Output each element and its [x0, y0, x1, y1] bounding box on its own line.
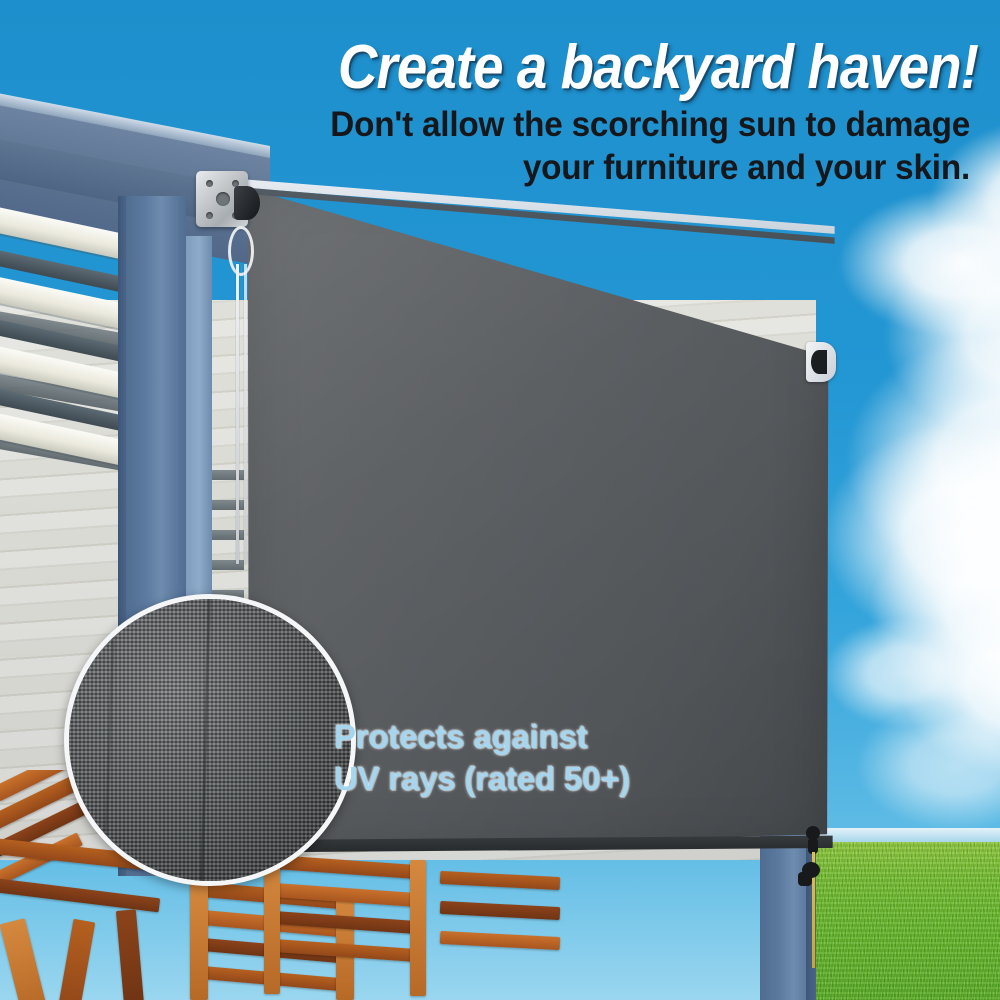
bracket-hole	[206, 212, 213, 219]
headline: Create a backyard haven!	[117, 32, 978, 103]
product-banner: Create a backyard haven! Don't allow the…	[0, 0, 1000, 1000]
pull-cord	[244, 264, 247, 564]
fabric-shading	[69, 599, 351, 881]
uv-protection-callout: Protects against UV rays (rated 50+)	[334, 716, 630, 800]
subheadline-line-1: Don't allow the scorching sun to damage	[305, 104, 970, 147]
subheadline-line-2: your furniture and your skin.	[305, 147, 970, 190]
bracket-drum	[234, 186, 260, 220]
subheadline: Don't allow the scorching sun to damage …	[305, 104, 970, 189]
uv-callout-line-2: UV rays (rated 50+)	[334, 758, 630, 800]
uv-callout-line-1: Protects against	[334, 716, 630, 758]
bracket-hole	[206, 180, 213, 187]
bracket-hole	[216, 192, 230, 206]
blind-clip	[798, 872, 812, 886]
fabric-magnifier	[64, 594, 356, 886]
pull-cord	[236, 264, 239, 564]
blind-end-cap-roller	[811, 350, 827, 374]
pull-cord-loop	[228, 226, 254, 276]
grass-lawn	[806, 842, 1000, 1000]
